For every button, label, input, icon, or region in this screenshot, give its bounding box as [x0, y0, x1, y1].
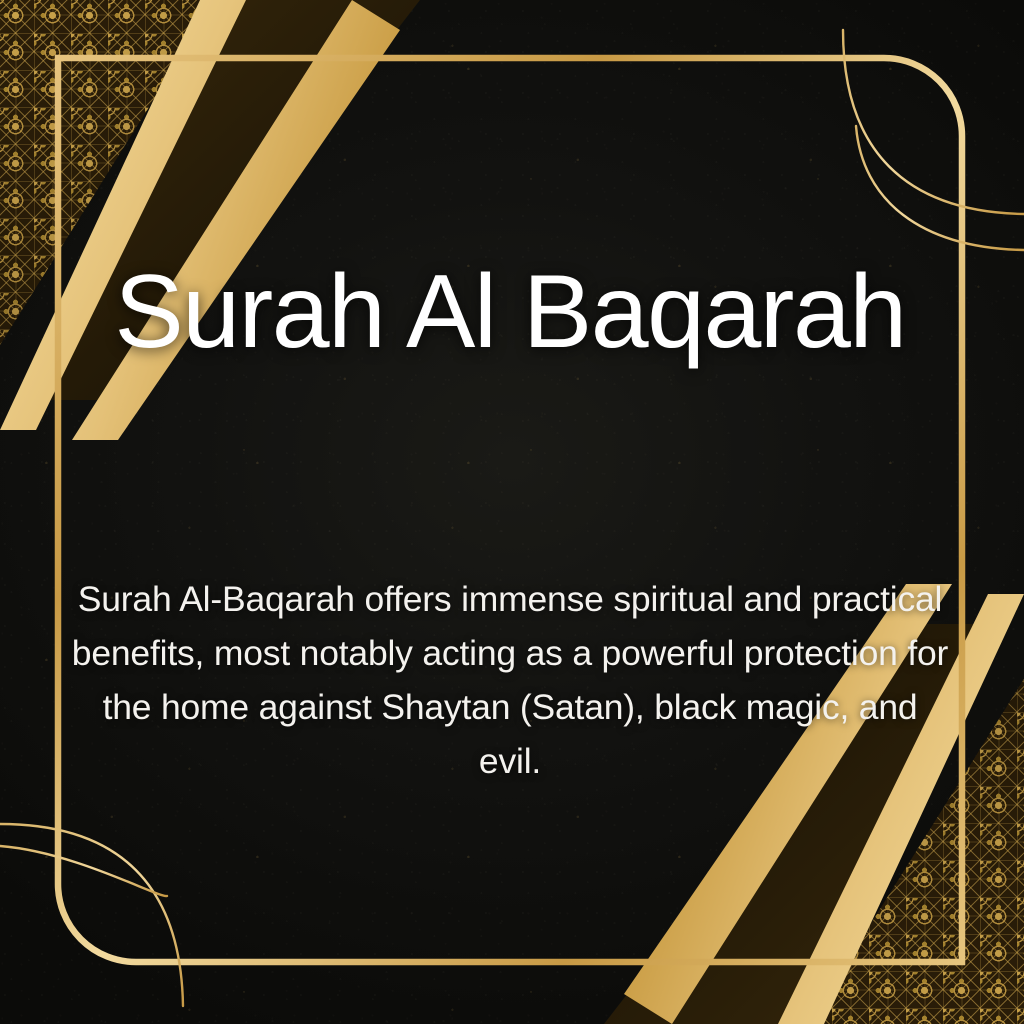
poster-content: Surah Al Baqarah Surah Al-Baqarah offers…: [96, 58, 924, 962]
page-title: Surah Al Baqarah: [114, 258, 905, 367]
poster-canvas: Surah Al Baqarah Surah Al-Baqarah offers…: [0, 0, 1024, 1024]
poster-description: Surah Al-Baqarah offers immense spiritua…: [70, 573, 950, 789]
